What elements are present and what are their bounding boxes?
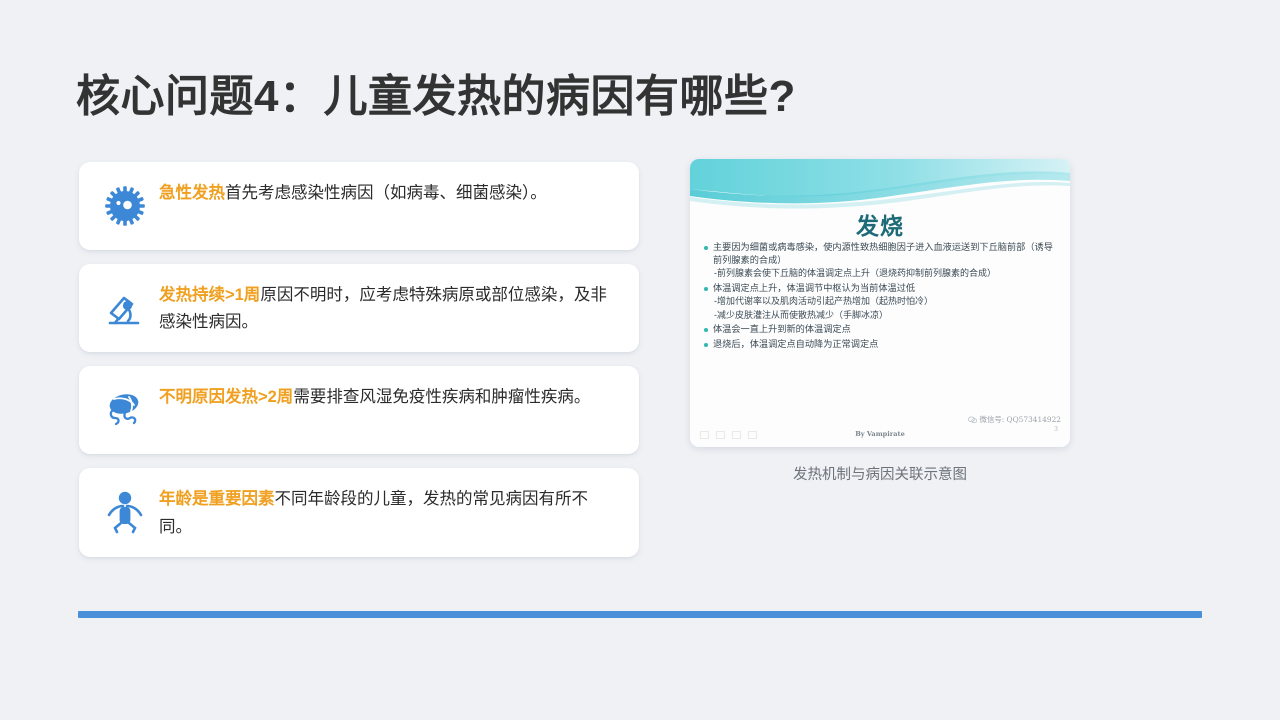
page-title: 核心问题4：儿童发热的病因有哪些? (76, 60, 796, 124)
microscope-icon (97, 280, 153, 336)
card-lead: 发热持续>1周 (159, 286, 260, 304)
card-lead: 不明原因发热>2周 (159, 388, 293, 406)
author-credit: By Vampirate (690, 430, 1070, 438)
bullet-text: 退烧后，体温调定点自动降为正常调定点 (713, 338, 1058, 351)
card-text: 不明原因发热>2周需要排查风湿免疫性疾病和肿瘤性疾病。 (159, 382, 619, 411)
card-text: 急性发热首先考虑感染性病因（如病毒、细菌感染）。 (159, 178, 619, 207)
card-list: 急性发热首先考虑感染性病因（如病毒、细菌感染）。 发热持续>1周原因不明时，应考… (79, 162, 639, 557)
child-icon (97, 484, 153, 540)
bullet-text: 体温会一直上升到新的体温调定点 (713, 323, 1058, 336)
card-text: 年龄是重要因素不同年龄段的儿童，发热的常见病因有所不同。 (159, 484, 619, 540)
brain-icon (97, 382, 153, 438)
list-item[interactable]: 发热持续>1周原因不明时，应考虑特殊病原或部位感染，及非感染性病因。 (79, 264, 639, 352)
slide-root: 核心问题4：儿童发热的病因有哪些? (0, 0, 1280, 720)
virus-icon (97, 178, 153, 234)
wechat-credit: 微信号: QQ573414922 (968, 414, 1061, 425)
bullet-item: 体温会一直上升到新的体温调定点 (702, 323, 1058, 336)
wechat-icon (968, 416, 977, 424)
bullet-text: 体温调定点上升，体温调节中枢认为当前体温过低 (713, 282, 1058, 295)
embedded-slide-image[interactable]: 发烧 主要因为细菌或病毒感染，使内源性致热细胞因子进入血液运送到下丘脑前部（诱导… (690, 159, 1070, 447)
list-item[interactable]: 年龄是重要因素不同年龄段的儿童，发热的常见病因有所不同。 (79, 468, 639, 556)
list-item[interactable]: 急性发热首先考虑感染性病因（如病毒、细菌感染）。 (79, 162, 639, 250)
bullet-item: 主要因为细菌或病毒感染，使内源性致热细胞因子进入血液运送到下丘脑前部（诱导前列腺… (702, 241, 1058, 267)
bullet-dot-icon (704, 343, 708, 347)
figure-caption: 发热机制与病因关联示意图 (793, 463, 967, 484)
bullet-item: 体温调定点上升，体温调节中枢认为当前体温过低 (702, 282, 1058, 295)
embedded-slide-title: 发烧 (690, 207, 1070, 241)
card-body: 首先考虑感染性病因（如病毒、细菌感染）。 (225, 184, 547, 202)
card-lead: 年龄是重要因素 (159, 490, 275, 508)
bullet-subtext: -增加代谢率以及肌肉活动引起产热增加（起热时怕冷） (714, 296, 1058, 309)
bullet-subtext: -减少皮肤灌注从而使散热减少（手脚冰凉） (714, 310, 1058, 323)
embedded-slide-footer: 微信号: QQ573414922 3 By Vampirate (690, 419, 1070, 441)
bullet-dot-icon (704, 246, 708, 250)
card-body: 需要排查风湿免疫性疾病和肿瘤性疾病。 (293, 388, 590, 406)
bullet-dot-icon (704, 328, 708, 332)
card-lead: 急性发热 (159, 184, 225, 202)
bottom-accent-bar (78, 611, 1202, 618)
bullet-text: 主要因为细菌或病毒感染，使内源性致热细胞因子进入血液运送到下丘脑前部（诱导前列腺… (713, 241, 1058, 267)
card-text: 发热持续>1周原因不明时，应考虑特殊病原或部位感染，及非感染性病因。 (159, 280, 619, 336)
bullet-dot-icon (704, 287, 708, 291)
list-item[interactable]: 不明原因发热>2周需要排查风湿免疫性疾病和肿瘤性疾病。 (79, 366, 639, 454)
embedded-slide-body: 主要因为细菌或病毒感染，使内源性致热细胞因子进入血液运送到下丘脑前部（诱导前列腺… (702, 241, 1058, 352)
bullet-subtext: -前列腺素会使下丘脑的体温调定点上升（退烧药抑制前列腺素的合成） (714, 268, 1058, 281)
figure-panel: 发烧 主要因为细菌或病毒感染，使内源性致热细胞因子进入血液运送到下丘脑前部（诱导… (690, 159, 1070, 484)
bullet-item: 退烧后，体温调定点自动降为正常调定点 (702, 338, 1058, 351)
wechat-text: 微信号: QQ573414922 (980, 414, 1061, 425)
